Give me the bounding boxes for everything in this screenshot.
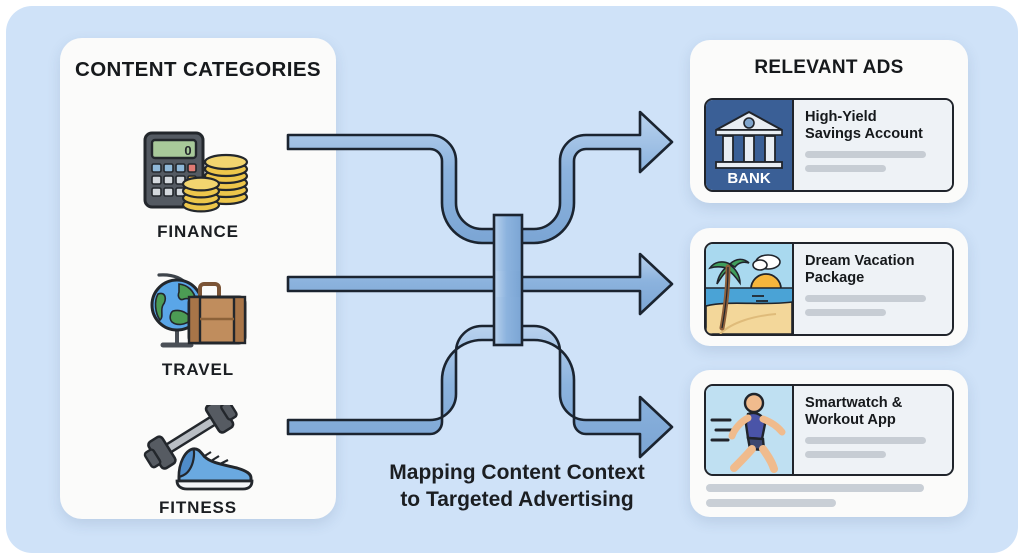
relevant-ads-panel: RELEVANT ADS BANK High-Yield Savings Ac	[690, 40, 968, 203]
caption-line-1: Mapping Content Context	[352, 460, 682, 487]
caption-line-2: to Targeted Advertising	[352, 487, 682, 514]
svg-text:BANK: BANK	[727, 170, 770, 187]
ad-placeholder-bar	[805, 165, 886, 172]
category-fitness[interactable]: FITNESS	[60, 402, 336, 518]
svg-text:0: 0	[184, 143, 191, 158]
globe-suitcase-icon	[60, 264, 336, 356]
beach-palm-sunset-icon	[706, 244, 794, 334]
content-categories-panel: CONTENT CATEGORIES 0	[60, 38, 336, 519]
ad-body: Smartwatch & Workout App	[794, 386, 952, 474]
panel-placeholder-bar	[706, 499, 836, 507]
category-travel[interactable]: TRAVEL	[60, 264, 336, 380]
ad-headline: Smartwatch & Workout App	[805, 395, 942, 430]
category-label: TRAVEL	[60, 360, 336, 380]
content-categories-title: CONTENT CATEGORIES	[60, 58, 336, 82]
bank-building-icon: BANK	[706, 100, 794, 190]
ad-headline: Dream Vacation Package	[805, 253, 942, 288]
category-finance[interactable]: 0	[60, 126, 336, 242]
ad-body: High-Yield Savings Account	[794, 100, 952, 190]
ad-placeholder-bar	[805, 309, 886, 316]
ad-headline: High-Yield Savings Account	[805, 109, 942, 144]
relevant-ads-title: RELEVANT ADS	[690, 57, 968, 79]
ad-card-savings[interactable]: BANK High-Yield Savings Account	[704, 98, 954, 192]
diagram-canvas: CONTENT CATEGORIES 0	[0, 0, 1024, 559]
ad-placeholder-bar	[805, 437, 926, 444]
dumbbell-sneaker-icon	[60, 402, 336, 494]
ad-placeholder-bar	[805, 151, 926, 158]
ad-placeholder-bar	[805, 451, 886, 458]
ad-body: Dream Vacation Package	[794, 244, 952, 334]
running-person-icon	[706, 386, 794, 474]
panel-placeholder-bar	[706, 484, 924, 492]
diagram-caption: Mapping Content Context to Targeted Adve…	[352, 460, 682, 514]
category-label: FITNESS	[60, 498, 336, 518]
calculator-coins-icon: 0	[60, 126, 336, 218]
ad-panel-vacation: Dream Vacation Package	[690, 228, 968, 346]
ad-panel-fitness: Smartwatch & Workout App	[690, 370, 968, 517]
ad-card-smartwatch[interactable]: Smartwatch & Workout App	[704, 384, 954, 476]
ad-placeholder-bar	[805, 295, 926, 302]
category-label: FINANCE	[60, 222, 336, 242]
ad-card-vacation[interactable]: Dream Vacation Package	[704, 242, 954, 336]
